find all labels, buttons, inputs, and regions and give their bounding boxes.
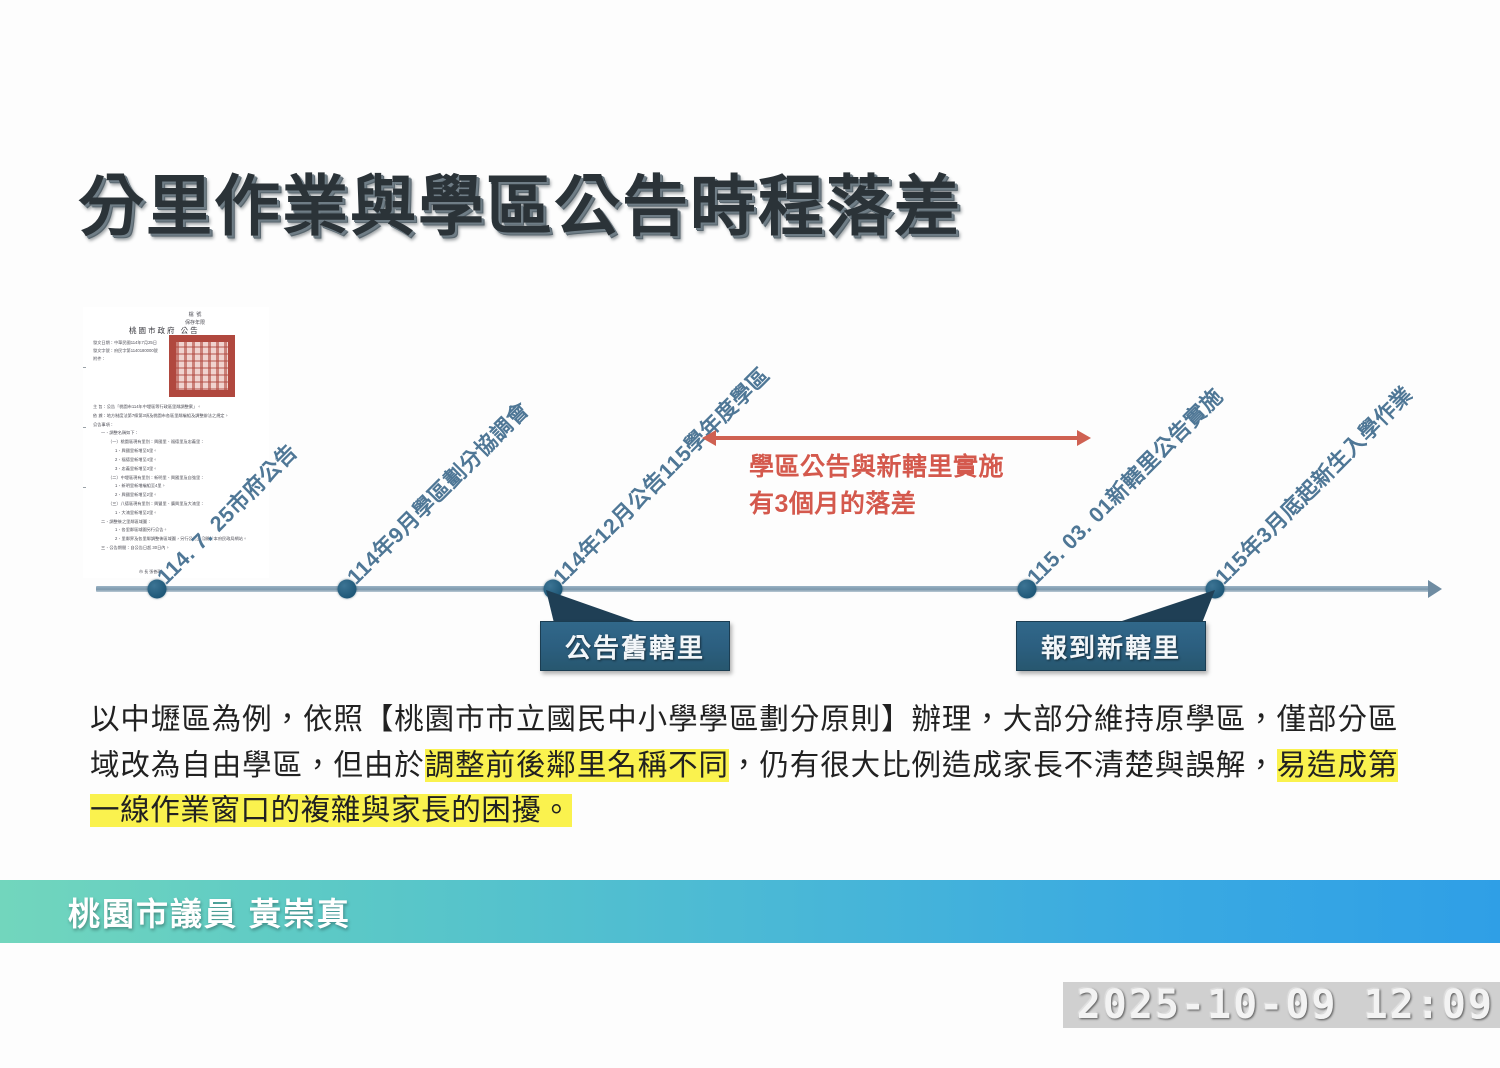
page-title: 分里作業與學區公告時程落差 [78, 172, 962, 241]
doc-margin-tick [83, 427, 86, 428]
body-paragraph: 以中壢區為例，依照【桃園市市立國民中小學學區劃分原則】辦理，大部分維持原學區，僅… [90, 697, 1398, 834]
doc-meta-line: 發文日期：中華民國114年7月25日 [93, 339, 158, 347]
timeline-axis [96, 586, 1436, 592]
doc-body-line: 1、各里鄰區域圖另行公告。 [93, 526, 261, 535]
timeline-node-label-4: 115. 03. 01新轄里公告實施 [1019, 381, 1229, 591]
doc-body-line: 主 旨：公告「桃園市114年中壢區等行政區里鄰調整案」。 [93, 403, 261, 412]
timeline-node-label-5: 115年3月底起新生入學作業 [1207, 379, 1419, 591]
doc-body-line: 2、福德里新增至4里。 [93, 456, 261, 465]
doc-meta: 發文日期：中華民國114年7月25日 發文字號：府民字第1140180000號 … [93, 339, 158, 363]
doc-margin-tick [83, 487, 86, 488]
gap-annotation-line-2: 有3個月的落差 [749, 486, 1004, 523]
doc-body: 主 旨：公告「桃園市114年中壢區等行政區里鄰調整案」。 依 據：地方制度法第7… [93, 403, 261, 553]
callout-new-label: 報到新轄里 [1041, 628, 1181, 665]
timeline-node-label-3: 114年12月公告115學年度學區 [545, 360, 776, 591]
doc-body-line: 一、調整名稱如下： [93, 429, 261, 438]
doc-body-line: 依 據：地方制度法第7條第3項及桃園市各區里鄰編組及調整辦法之規定。 [93, 412, 261, 421]
doc-body-line: 公告事項： [93, 421, 261, 430]
government-notice-scan: 檔 號保存年限 桃園市政府 公告 發文日期：中華民國114年7月25日 發文字號… [83, 307, 269, 578]
callout-old-label: 公告舊轄里 [565, 628, 705, 665]
lower-name-banner: 桃園市議員 黃崇真 [0, 880, 1500, 943]
gap-annotation-text: 學區公告與新轄里實施 有3個月的落差 [749, 449, 1004, 523]
callout-announce-old-village[interactable]: 公告舊轄里 [540, 621, 730, 671]
broadcast-timestamp: 2025-10-09 12:09 [1063, 982, 1500, 1028]
speaker-name: 桃園市議員 黃崇真 [68, 889, 351, 935]
timeline-arrowhead-icon [1428, 580, 1442, 598]
gap-double-arrow-icon [715, 436, 1078, 440]
gap-annotation-line-1: 學區公告與新轄里實施 [749, 449, 1004, 486]
paragraph-segment-plain: ，仍有很大比例造成家長不清楚與誤解， [729, 749, 1277, 782]
doc-meta-line: 發文字號：府民字第1140180000號 [93, 347, 158, 355]
slide-canvas: 分里作業與學區公告時程落差 檔 號保存年限 桃園市政府 公告 發文日期：中華民國… [0, 0, 1500, 1068]
doc-body-line: 3、忠義里新增至3里。 [93, 465, 261, 474]
doc-body-line: （一）桃園區現有里別：興國里、福德里及忠義里： [93, 438, 261, 447]
doc-body-line: 1、興國里新增至5里。 [93, 447, 261, 456]
callout-report-new-village[interactable]: 報到新轄里 [1016, 621, 1206, 671]
paragraph-segment-highlight: 調整前後鄰里名稱不同 [425, 749, 729, 782]
official-seal-icon [169, 335, 235, 397]
doc-margin-tick [83, 367, 86, 368]
doc-meta-line: 附件： [93, 355, 158, 363]
timeline-node-label-2: 114年9月學區劃分協調會 [339, 394, 535, 590]
